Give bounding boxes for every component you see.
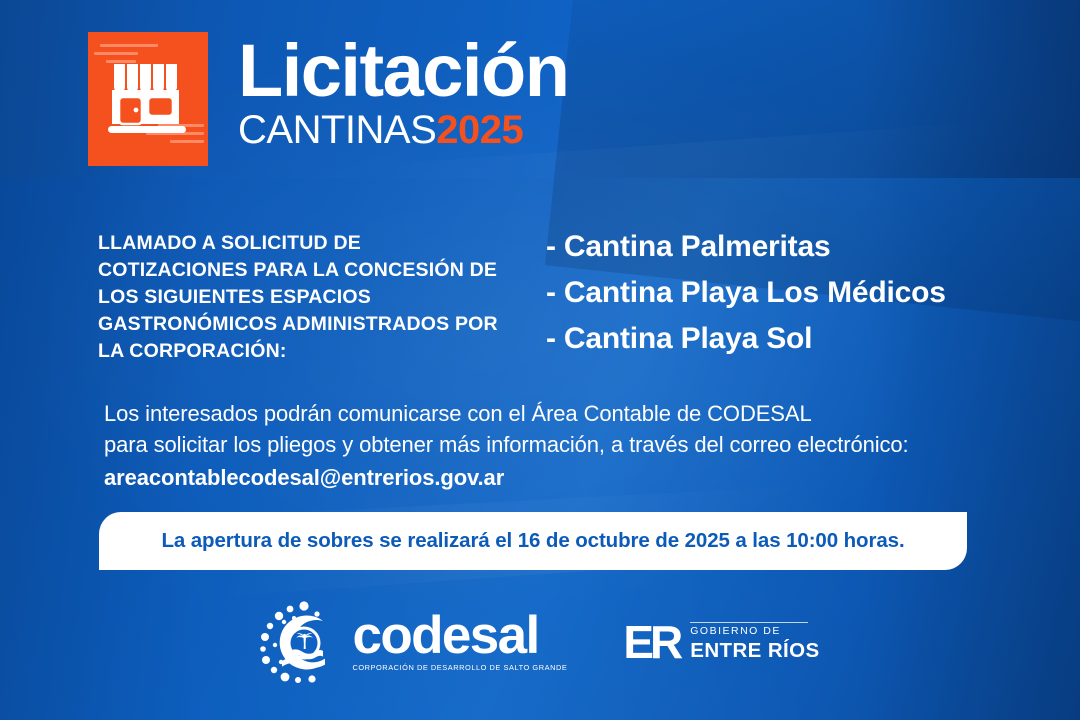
contact-line-1: Los interesados podrán comunicarse con e…	[104, 398, 909, 429]
page-title: Licitación	[238, 36, 568, 106]
page-subtitle: CANTINAS2025	[238, 110, 568, 150]
list-item: - Cantina Playa Sol	[546, 316, 946, 362]
contact-block: Los interesados podrán comunicarse con e…	[104, 398, 909, 494]
er-divider	[690, 622, 808, 623]
list-item: - Cantina Playa Los Médicos	[546, 270, 946, 316]
codesal-tagline: CORPORACIÓN DE DESARROLLO DE SALTO GRAND…	[352, 663, 567, 672]
codesal-wordmark: codesal	[352, 612, 567, 660]
list-item: - Cantina Palmeritas	[546, 224, 946, 270]
er-gobierno-label: GOBIERNO DE	[690, 626, 819, 638]
title-block: Licitación CANTINAS2025	[238, 32, 568, 150]
er-monogram: ER	[623, 619, 679, 665]
contact-line-2: para solicitar los pliegos y obtener más…	[104, 429, 909, 460]
storefront-icon	[88, 32, 208, 166]
poster-canvas: Licitación CANTINAS2025 LLAMADO A SOLICI…	[0, 0, 1080, 720]
subtitle-year: 2025	[436, 108, 523, 152]
codesal-wordmark-block: codesal CORPORACIÓN DE DESARROLLO DE SAL…	[352, 612, 567, 672]
contact-email[interactable]: areacontablecodesal@entrerios.gov.ar	[104, 462, 909, 493]
date-notice-text: La apertura de sobres se realizará el 16…	[161, 529, 904, 553]
subtitle-word: CANTINAS	[238, 108, 436, 152]
cantina-list: - Cantina Palmeritas - Cantina Playa Los…	[546, 224, 946, 362]
date-notice-bar: La apertura de sobres se realizará el 16…	[99, 512, 967, 570]
codesal-logo: codesal CORPORACIÓN DE DESARROLLO DE SAL…	[260, 600, 567, 684]
callout-text: LLAMADO A SOLICITUD DE COTIZACIONES PARA…	[98, 230, 508, 365]
codesal-c-logo	[260, 600, 344, 684]
er-province-label: ENTRE RÍOS	[690, 639, 819, 663]
er-text-block: GOBIERNO DE ENTRE RÍOS	[690, 622, 819, 663]
storefront-glyph	[108, 60, 188, 138]
entre-rios-logo: ER GOBIERNO DE ENTRE RÍOS	[623, 619, 819, 665]
footer-logos: codesal CORPORACIÓN DE DESARROLLO DE SAL…	[0, 600, 1080, 684]
poster-header: Licitación CANTINAS2025	[88, 32, 568, 166]
